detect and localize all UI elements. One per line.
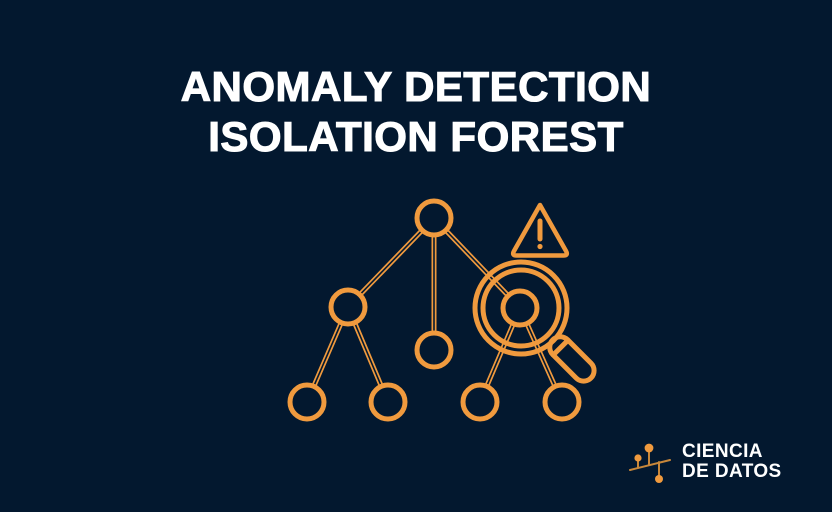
leaf-node-1 — [290, 385, 324, 419]
leaf-node-4 — [545, 385, 579, 419]
middle-leaf-node — [417, 333, 451, 367]
title-line-2: ISOLATION FOREST — [0, 112, 832, 162]
page-title: ANOMALY DETECTION ISOLATION FOREST — [0, 62, 832, 162]
title-line-1: ANOMALY DETECTION — [0, 62, 832, 112]
logo-dot-2 — [645, 444, 654, 453]
warning-triangle — [513, 205, 567, 256]
brand-logo: CIENCIA DE DATOS — [627, 434, 802, 490]
logo-line-2: DE DATOS — [682, 462, 782, 482]
left-inner-node — [331, 290, 365, 324]
logo-line-1: CIENCIA — [682, 442, 782, 462]
leaf-node-2 — [371, 385, 405, 419]
scatter-chart-icon — [627, 440, 673, 484]
isolation-forest-illustration — [270, 185, 650, 435]
leaf-node-3 — [463, 385, 497, 419]
right-inner-node — [503, 291, 537, 325]
isolation-forest-svg — [270, 185, 650, 435]
warning-exclamation-dot — [537, 244, 542, 249]
brand-logo-text: CIENCIA DE DATOS — [682, 442, 782, 482]
root-node — [417, 201, 451, 235]
logo-dot-3 — [655, 475, 663, 483]
logo-dot-1 — [634, 454, 641, 461]
poster-canvas: ANOMALY DETECTION ISOLATION FOREST — [0, 0, 832, 512]
